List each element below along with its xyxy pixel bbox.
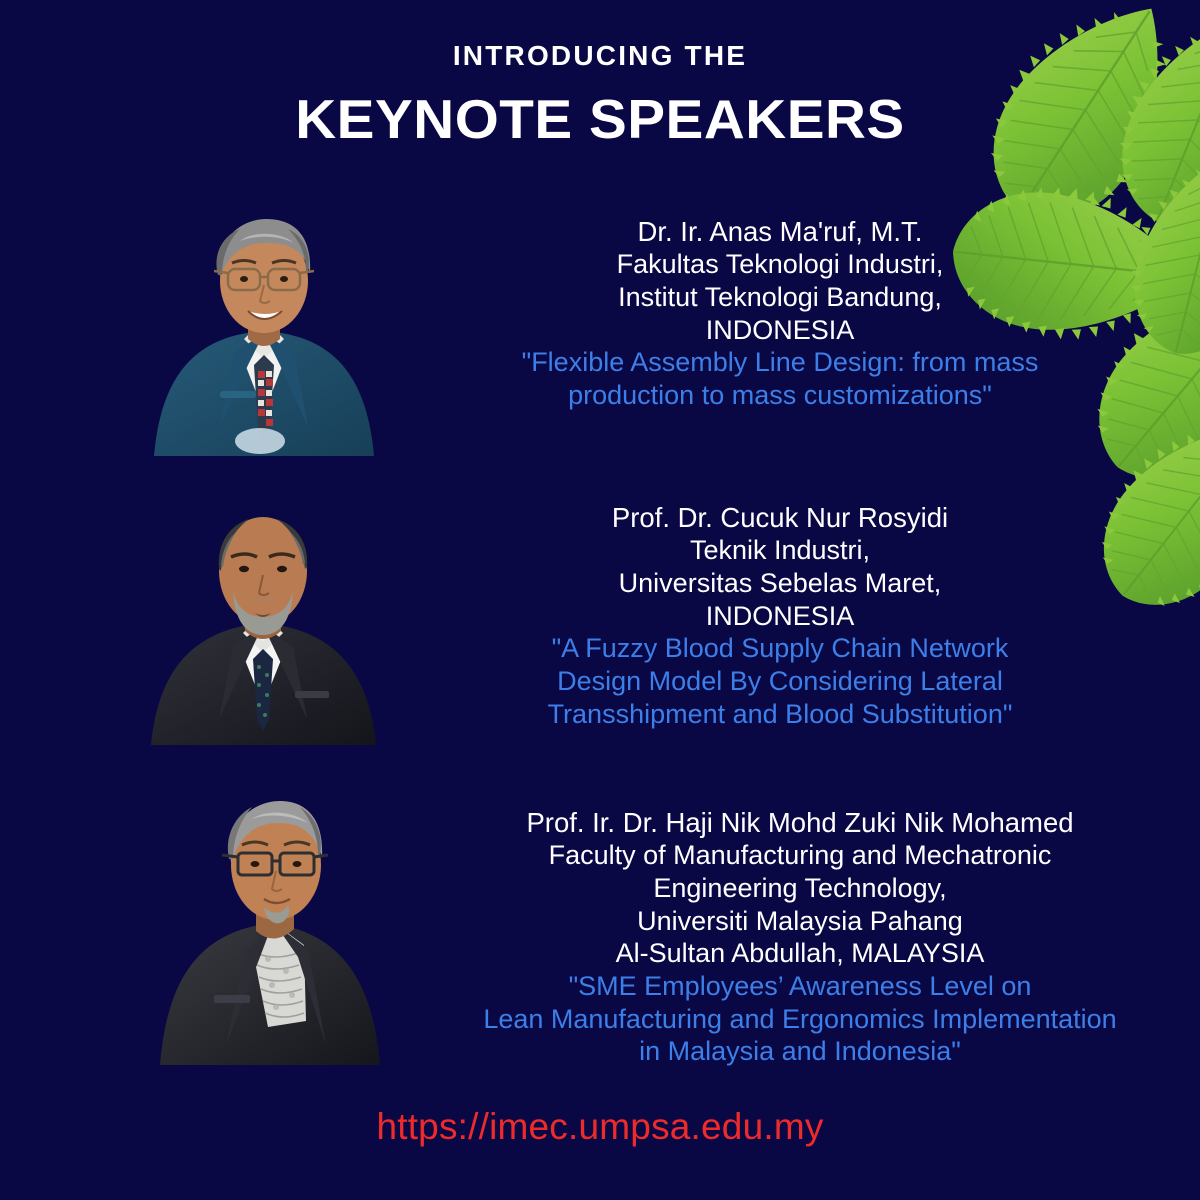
poster-header: INTRODUCING THE KEYNOTE SPEAKERS bbox=[0, 0, 1200, 147]
speaker-card-1 bbox=[0, 200, 1200, 480]
poster-canvas: INTRODUCING THE KEYNOTE SPEAKERS bbox=[0, 0, 1200, 1200]
speaker-card-2 bbox=[0, 490, 1200, 765]
header-eyebrow: INTRODUCING THE bbox=[0, 42, 1200, 70]
footer: https://imec.umpsa.edu.my bbox=[0, 1108, 1200, 1145]
website-url-link[interactable]: https://imec.umpsa.edu.my bbox=[376, 1106, 823, 1147]
page-title: KEYNOTE SPEAKERS bbox=[0, 92, 1200, 147]
speaker-card-3 bbox=[0, 780, 1200, 1080]
